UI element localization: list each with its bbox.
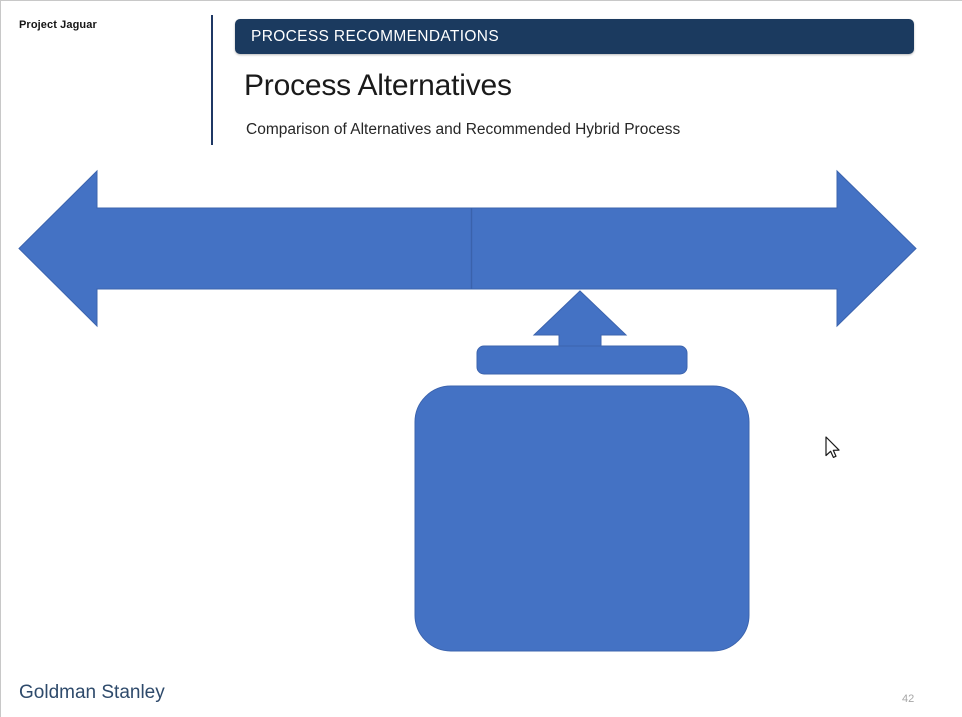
connector-bar-shape[interactable] [477,346,687,374]
up-arrow-shape[interactable] [534,291,626,353]
footer-brand: Goldman Stanley [19,682,165,704]
process-diagram [1,1,962,717]
double-headed-arrow-shape[interactable] [19,171,916,326]
presentation-slide: Project Jaguar PROCESS RECOMMENDATIONS P… [0,0,962,717]
page-number: 42 [902,693,914,705]
hybrid-process-panel-shape[interactable] [415,386,749,651]
